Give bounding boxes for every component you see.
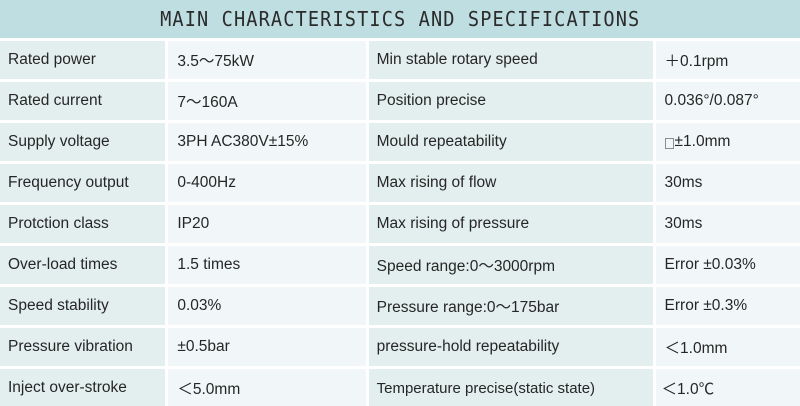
- spec-label: Inject over-stroke: [0, 369, 165, 406]
- spec-value: 0.036°/0.087°: [656, 82, 800, 120]
- spec-value: 3.5～75kW: [168, 41, 365, 79]
- spec-label: Temperature precise(static state): [369, 369, 653, 406]
- spec-value: ±0.5bar: [168, 328, 365, 366]
- spec-label: Position precise: [369, 82, 653, 120]
- spec-value: ＋0.1rpm: [656, 41, 800, 79]
- spec-value: Error ±0.3%: [656, 287, 800, 325]
- spec-label: Protction class: [0, 205, 165, 243]
- table-row: Inject over-stroke ＜5.0mm Temperature pr…: [0, 369, 800, 406]
- spec-label: Min stable rotary speed: [369, 41, 653, 79]
- spec-label: Pressure range:0～175bar: [369, 287, 653, 325]
- spec-value: 1.5 times: [168, 246, 365, 284]
- page-title: MAIN CHARACTERISTICS AND SPECIFICATIONS: [160, 7, 640, 31]
- spec-label: Frequency output: [0, 164, 165, 202]
- table-row: Over-load times 1.5 times Speed range:0～…: [0, 246, 800, 284]
- spec-label: Max rising of flow: [369, 164, 653, 202]
- spec-value: ＜1.0℃: [656, 369, 800, 406]
- spec-label: Rated power: [0, 41, 165, 79]
- table-row: Protction class IP20 Max rising of press…: [0, 205, 800, 243]
- specifications-table: Rated power 3.5～75kW Min stable rotary s…: [0, 38, 800, 406]
- spec-value: 30ms: [656, 164, 800, 202]
- table-row: Rated power 3.5～75kW Min stable rotary s…: [0, 41, 800, 79]
- spec-value: ＜5.0mm: [168, 369, 365, 406]
- table-row: Supply voltage 3PH AC380V±15% Mould repe…: [0, 123, 800, 161]
- spec-label: Over-load times: [0, 246, 165, 284]
- specification-sheet: MAIN CHARACTERISTICS AND SPECIFICATIONS …: [0, 0, 800, 406]
- table-row: Speed stability 0.03% Pressure range:0～1…: [0, 287, 800, 325]
- spec-value: ＜1.0mm: [656, 328, 800, 366]
- table-row: Frequency output 0-400Hz Max rising of f…: [0, 164, 800, 202]
- spec-label: Supply voltage: [0, 123, 165, 161]
- spec-label: Speed stability: [0, 287, 165, 325]
- spec-label: Max rising of pressure: [369, 205, 653, 243]
- spec-label: Pressure vibration: [0, 328, 165, 366]
- table-row: Rated current 7～160A Position precise 0.…: [0, 82, 800, 120]
- spec-value: ±1.0mm: [656, 123, 800, 161]
- spec-value: 30ms: [656, 205, 800, 243]
- spec-value: 0.03%: [168, 287, 365, 325]
- spec-value: IP20: [168, 205, 365, 243]
- title-banner: MAIN CHARACTERISTICS AND SPECIFICATIONS: [0, 0, 800, 38]
- spec-value: 7～160A: [168, 82, 365, 120]
- spec-value-text: ±1.0mm: [675, 133, 731, 151]
- spec-label: Speed range:0～3000rpm: [369, 246, 653, 284]
- spec-label: Mould repeatability: [369, 123, 653, 161]
- spec-value: Error ±0.03%: [656, 246, 800, 284]
- spec-value: 3PH AC380V±15%: [168, 123, 365, 161]
- spec-value: 0-400Hz: [168, 164, 365, 202]
- missing-glyph-box: [665, 138, 674, 149]
- table-row: Pressure vibration ±0.5bar pressure-hold…: [0, 328, 800, 366]
- spec-label: pressure-hold repeatability: [369, 328, 653, 366]
- spec-label: Rated current: [0, 82, 165, 120]
